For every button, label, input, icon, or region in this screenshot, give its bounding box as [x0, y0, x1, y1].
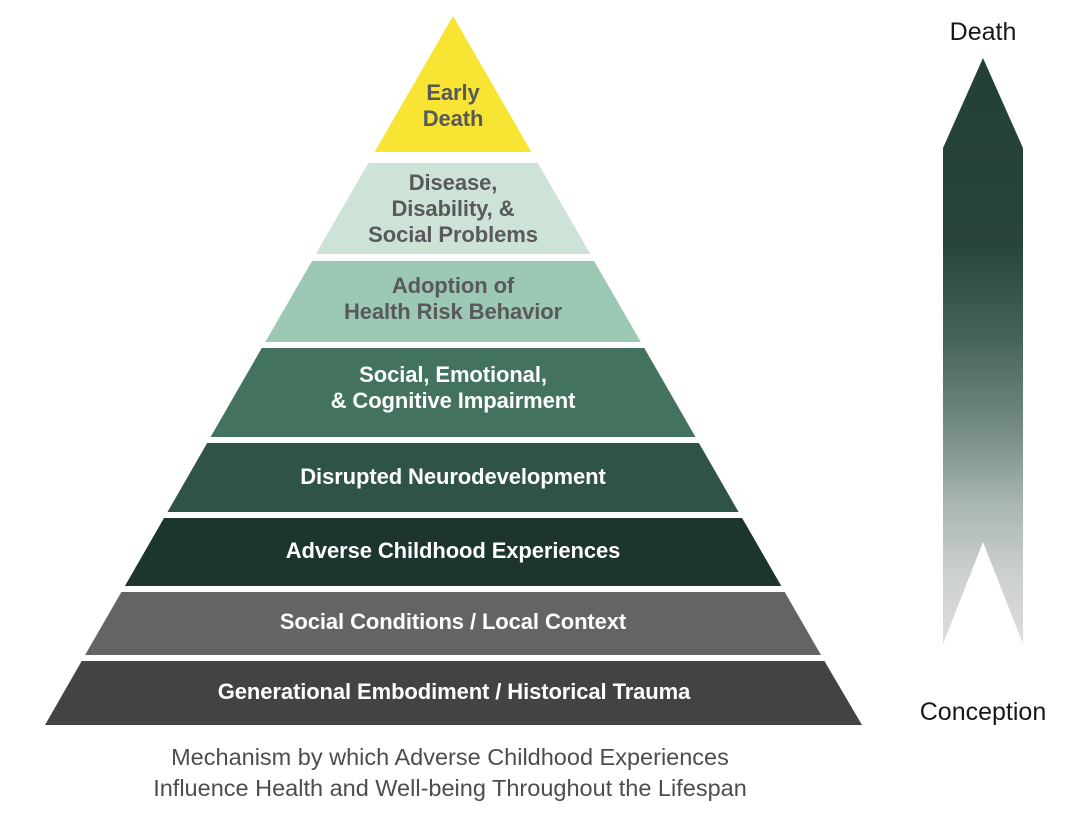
lifespan-arrow-icon: [900, 52, 1066, 672]
pyramid-band-8-shape[interactable]: [45, 661, 862, 725]
arrow-shape: [943, 58, 1023, 644]
pyramid-diagram: Early Death Disease, Disability, & Socia…: [0, 0, 900, 740]
pyramid-band-6-shape[interactable]: [125, 518, 781, 586]
pyramid-shapes: [0, 0, 900, 740]
pyramid-band-4-shape[interactable]: [211, 348, 696, 437]
pyramid-band-5-shape[interactable]: [168, 443, 739, 512]
aces-pyramid-figure: Early Death Disease, Disability, & Socia…: [0, 0, 1066, 830]
pyramid-band-7-shape[interactable]: [85, 592, 821, 655]
arrow-conception-label: Conception: [900, 698, 1066, 727]
arrow-death-label: Death: [900, 18, 1066, 47]
pyramid-band-1-shape[interactable]: [375, 16, 532, 152]
figure-caption: Mechanism by which Adverse Childhood Exp…: [0, 742, 900, 805]
pyramid-band-2-shape[interactable]: [316, 163, 591, 254]
lifespan-arrow-group: Death Conception: [900, 0, 1066, 760]
pyramid-band-3-shape[interactable]: [265, 261, 641, 342]
